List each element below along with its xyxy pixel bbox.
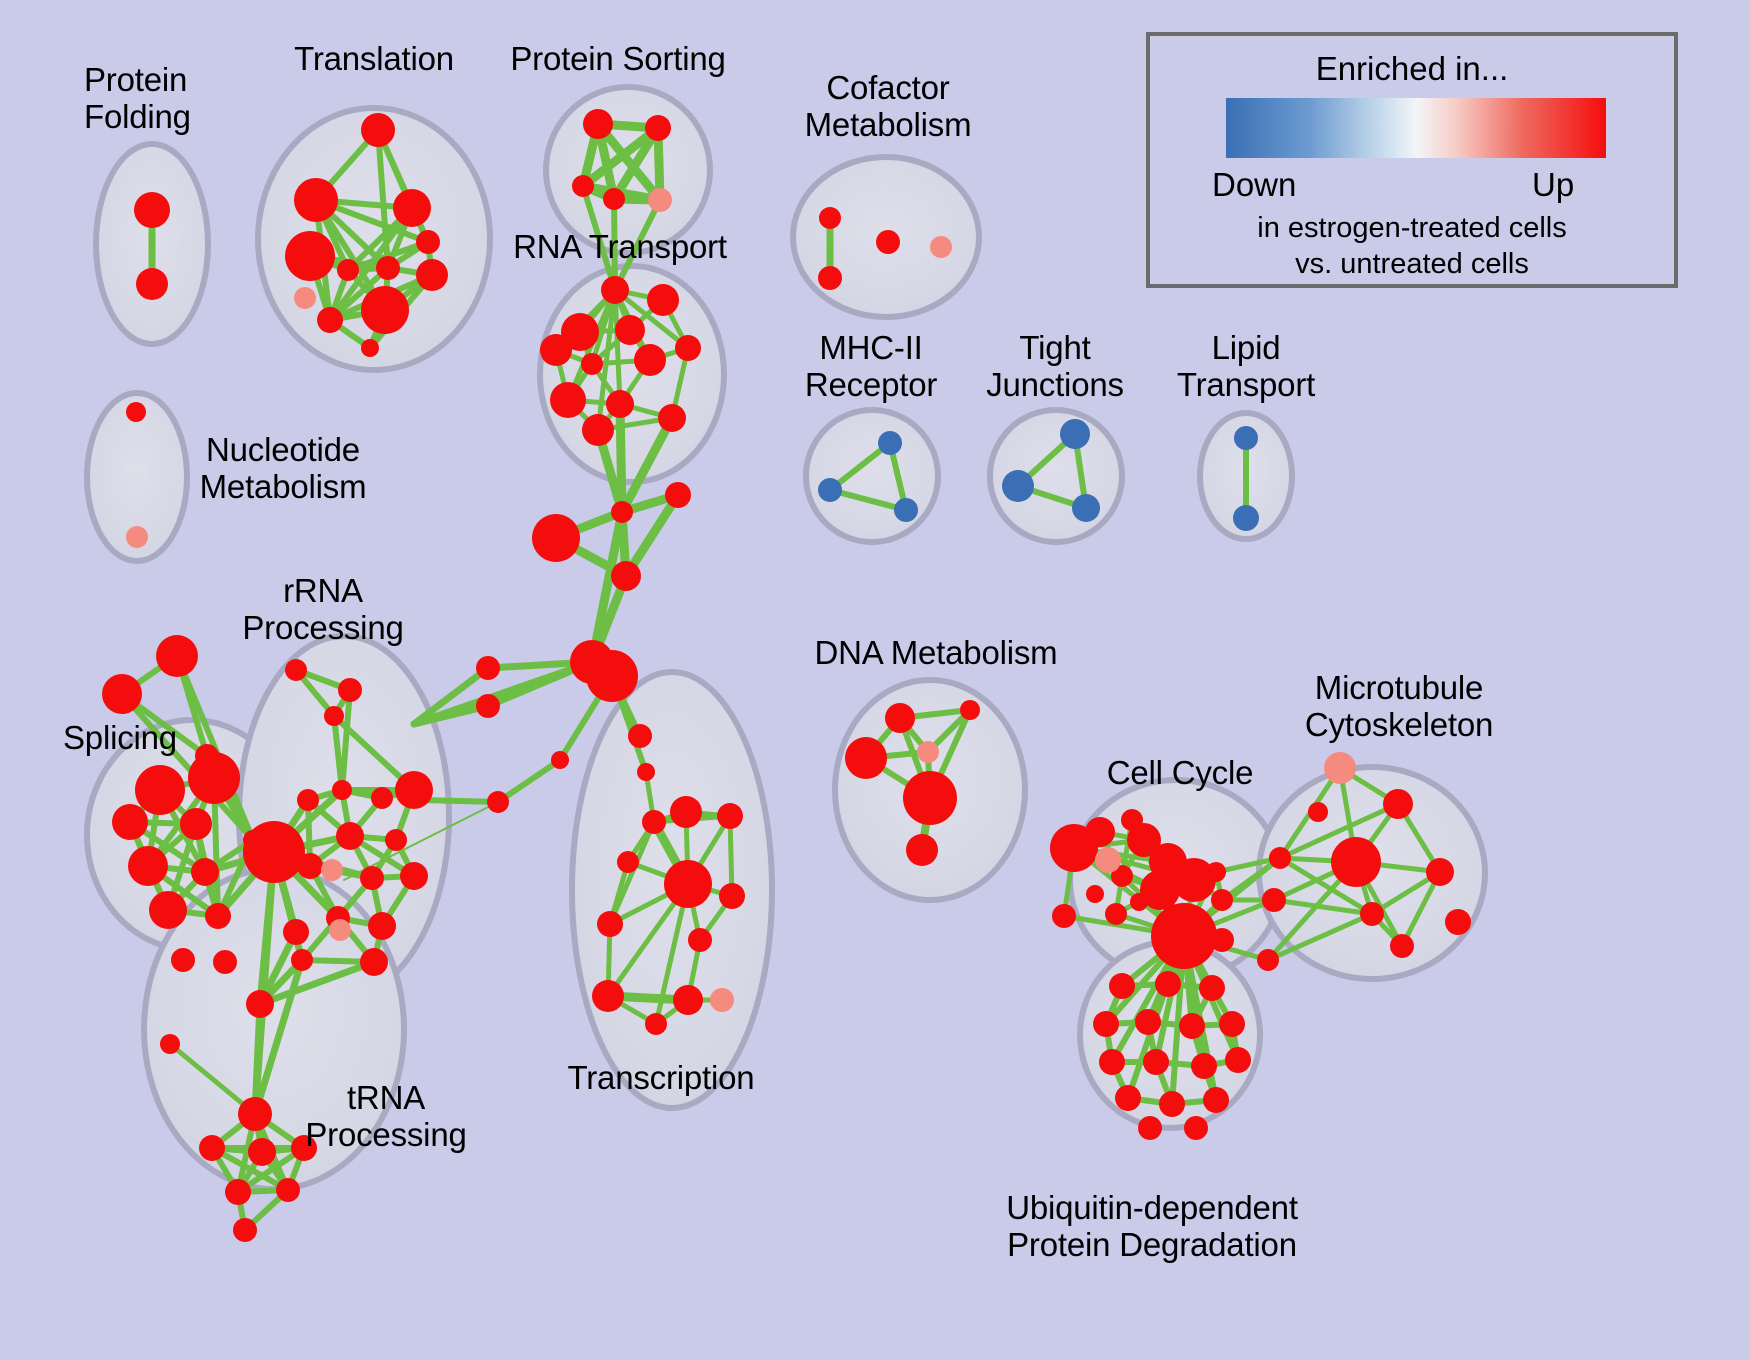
legend-box: Enriched in... Down Up in estrogen-treat… [1146, 32, 1678, 288]
legend-high-label: Up [1532, 166, 1574, 204]
label-rna-transport: RNA Transport [513, 229, 727, 266]
label-translation: Translation [294, 41, 454, 78]
enrichment-map-figure: Protein Folding Translation Protein Sort… [0, 0, 1750, 1360]
label-protein-sorting: Protein Sorting [510, 41, 725, 78]
label-rrna-processing: rRNA Processing [242, 573, 403, 647]
label-ubiquitin-degradation: Ubiquitin-dependent Protein Degradation [1006, 1190, 1298, 1264]
cluster-ellipse-rna-transport [540, 266, 724, 482]
label-trna-processing: tRNA Processing [305, 1080, 466, 1154]
legend-low-label: Down [1212, 166, 1296, 204]
label-microtubule-cytoskeleton: Microtubule Cytoskeleton [1305, 670, 1493, 744]
legend-subtitle-line1: in estrogen-treated cells [1150, 212, 1674, 245]
label-cofactor-metabolism: Cofactor Metabolism [805, 70, 972, 144]
label-tight-junctions: Tight Junctions [986, 330, 1124, 404]
label-splicing: Splicing [63, 720, 177, 757]
label-transcription: Transcription [568, 1060, 755, 1097]
legend-title: Enriched in... [1150, 50, 1674, 88]
color-gradient-bar [1226, 98, 1606, 158]
legend-subtitle-line2: vs. untreated cells [1150, 248, 1674, 281]
label-dna-metabolism: DNA Metabolism [815, 635, 1058, 672]
label-nucleotide-metabolism: Nucleotide Metabolism [200, 432, 367, 506]
label-protein-folding: Protein Folding [84, 62, 191, 136]
label-mhc-ii-receptor: MHC-II Receptor [805, 330, 937, 404]
cluster-ellipse-mhc-ii [806, 410, 938, 542]
label-cell-cycle: Cell Cycle [1107, 755, 1254, 792]
label-lipid-transport: Lipid Transport [1177, 330, 1315, 404]
